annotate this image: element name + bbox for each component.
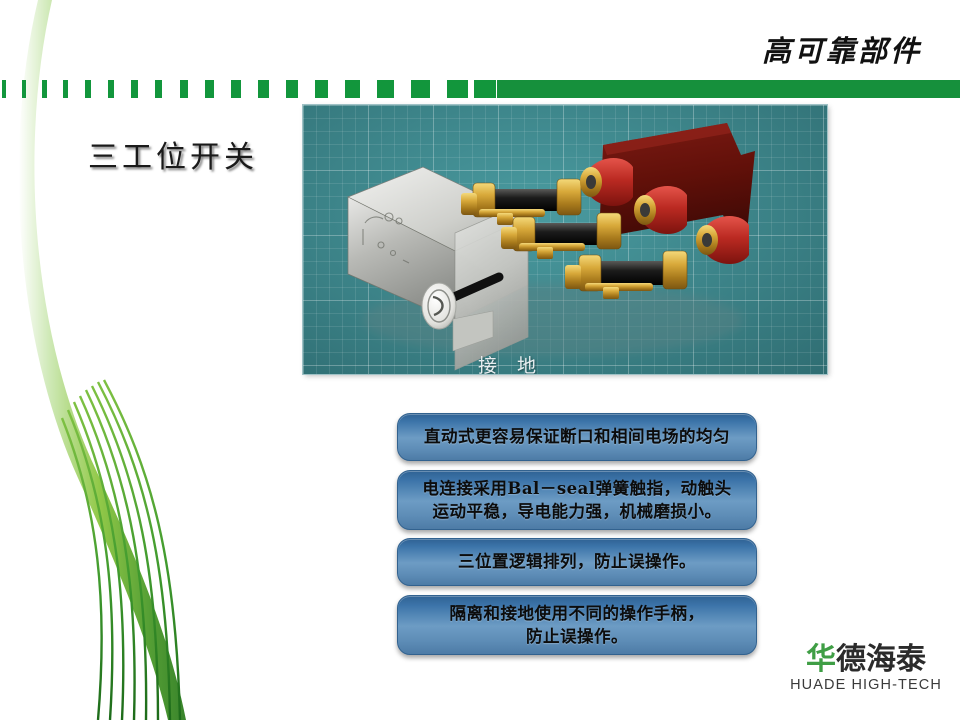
slide-canvas: 高可靠部件 三工位开关 xyxy=(0,0,960,720)
page-title: 高可靠部件 xyxy=(762,28,922,70)
product-image: 接 地 xyxy=(303,105,827,374)
header-dash-rule xyxy=(0,80,960,98)
bullet-box-4[interactable]: 隔离和接地使用不同的操作手柄， 防止误操作。 xyxy=(397,595,757,655)
bullet-text: 直动式更容易保证断口和相间电场的均匀 xyxy=(424,425,730,448)
slide-subtitle: 三工位开关 xyxy=(88,132,258,176)
decorative-green-swoosh xyxy=(0,0,300,720)
bullet-box-2[interactable]: 电连接采用Bal－seal弹簧触指，动触头 运动平稳，导电能力强，机械磨损小。 xyxy=(397,470,757,530)
figure-caption: 接 地 xyxy=(478,351,543,374)
logo-english-wordmark: HUADE HIGH-TECH xyxy=(778,677,954,693)
company-logo: 华德海泰 HUADE HIGH-TECH xyxy=(778,644,954,700)
bullet-text: 隔离和接地使用不同的操作手柄， 防止误操作。 xyxy=(450,602,705,649)
logo-chars-rest: 德海泰 xyxy=(836,642,926,677)
bullet-text: 电连接采用Bal－seal弹簧触指，动触头 运动平稳，导电能力强，机械磨损小。 xyxy=(422,477,731,524)
logo-chinese-wordmark: 华德海泰 xyxy=(778,644,954,676)
logo-char-hua: 华 xyxy=(806,642,836,677)
bullet-box-1[interactable]: 直动式更容易保证断口和相间电场的均匀 xyxy=(397,413,757,461)
switch-assembly-illustration xyxy=(303,105,827,374)
bullet-text: 三位置逻辑排列，防止误操作。 xyxy=(458,550,696,573)
bullet-box-3[interactable]: 三位置逻辑排列，防止误操作。 xyxy=(397,538,757,586)
